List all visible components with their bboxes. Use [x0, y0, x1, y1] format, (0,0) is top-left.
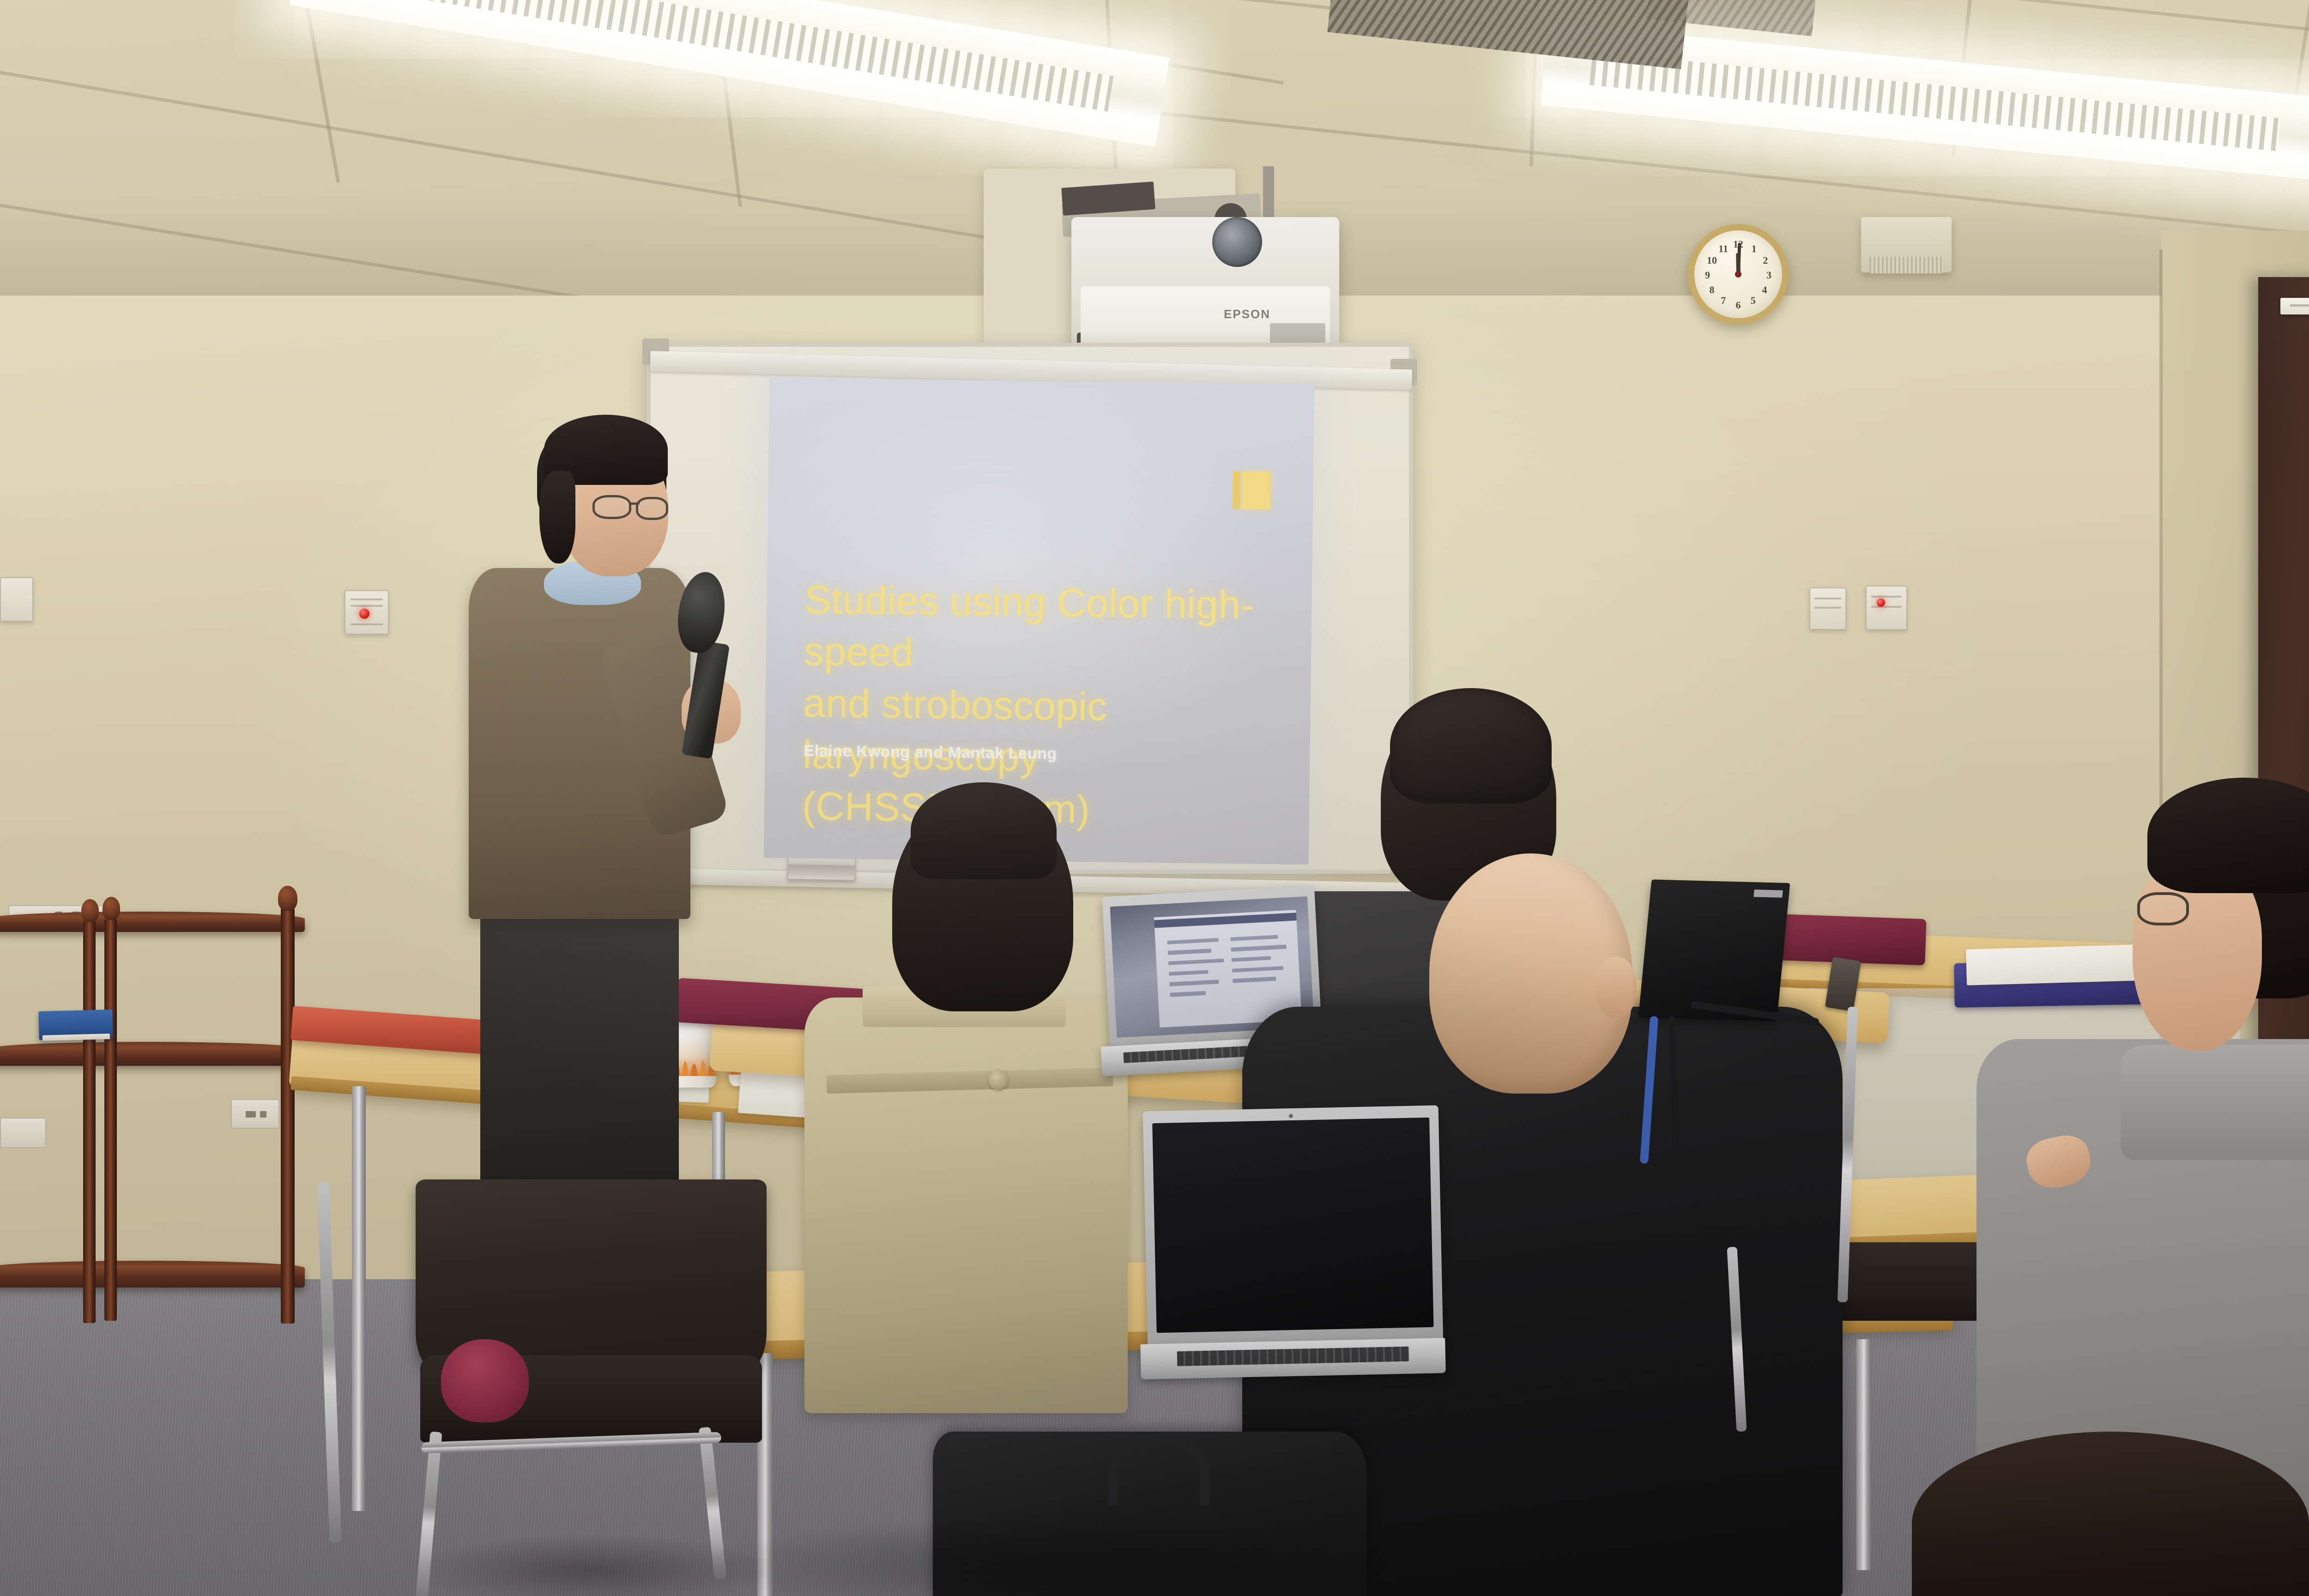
attendee-5-hair — [1912, 1432, 2309, 1596]
seminar-room-scene: EPSON Studies using Color high-speed and… — [0, 0, 2309, 1596]
attendee-bottom-edge — [0, 0, 2309, 1596]
